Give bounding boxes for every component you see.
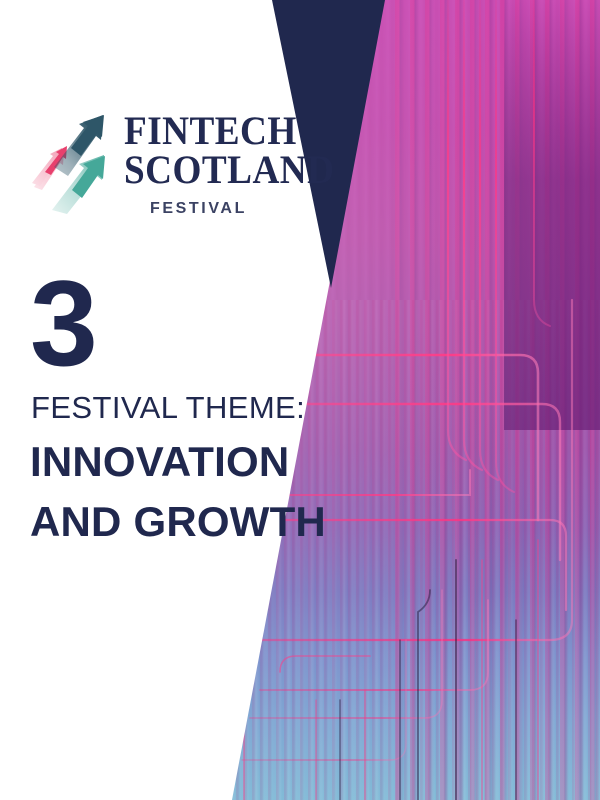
- wordmark-sub-festival: FESTIVAL: [150, 200, 282, 218]
- fintech-scotland-festival-logo: FINTECH SCOTLAND FESTIVAL: [26, 108, 278, 216]
- logo-wordmark: FINTECH SCOTLAND FESTIVAL: [124, 112, 282, 218]
- three-arrows-icon: [26, 110, 118, 214]
- headline-line-2: AND GROWTH: [30, 492, 430, 552]
- page-title: INNOVATION AND GROWTH: [30, 432, 430, 551]
- festival-theme-eyebrow: FESTIVAL THEME:: [31, 392, 305, 423]
- headline-line-1: INNOVATION: [30, 432, 430, 492]
- wordmark-line-scotland: SCOTLAND: [124, 151, 271, 189]
- cover-page: FINTECH SCOTLAND FESTIVAL 3 FESTIVAL THE…: [0, 0, 600, 800]
- wordmark-line-fintech: FINTECH: [124, 112, 271, 150]
- section-number: 3: [30, 262, 96, 384]
